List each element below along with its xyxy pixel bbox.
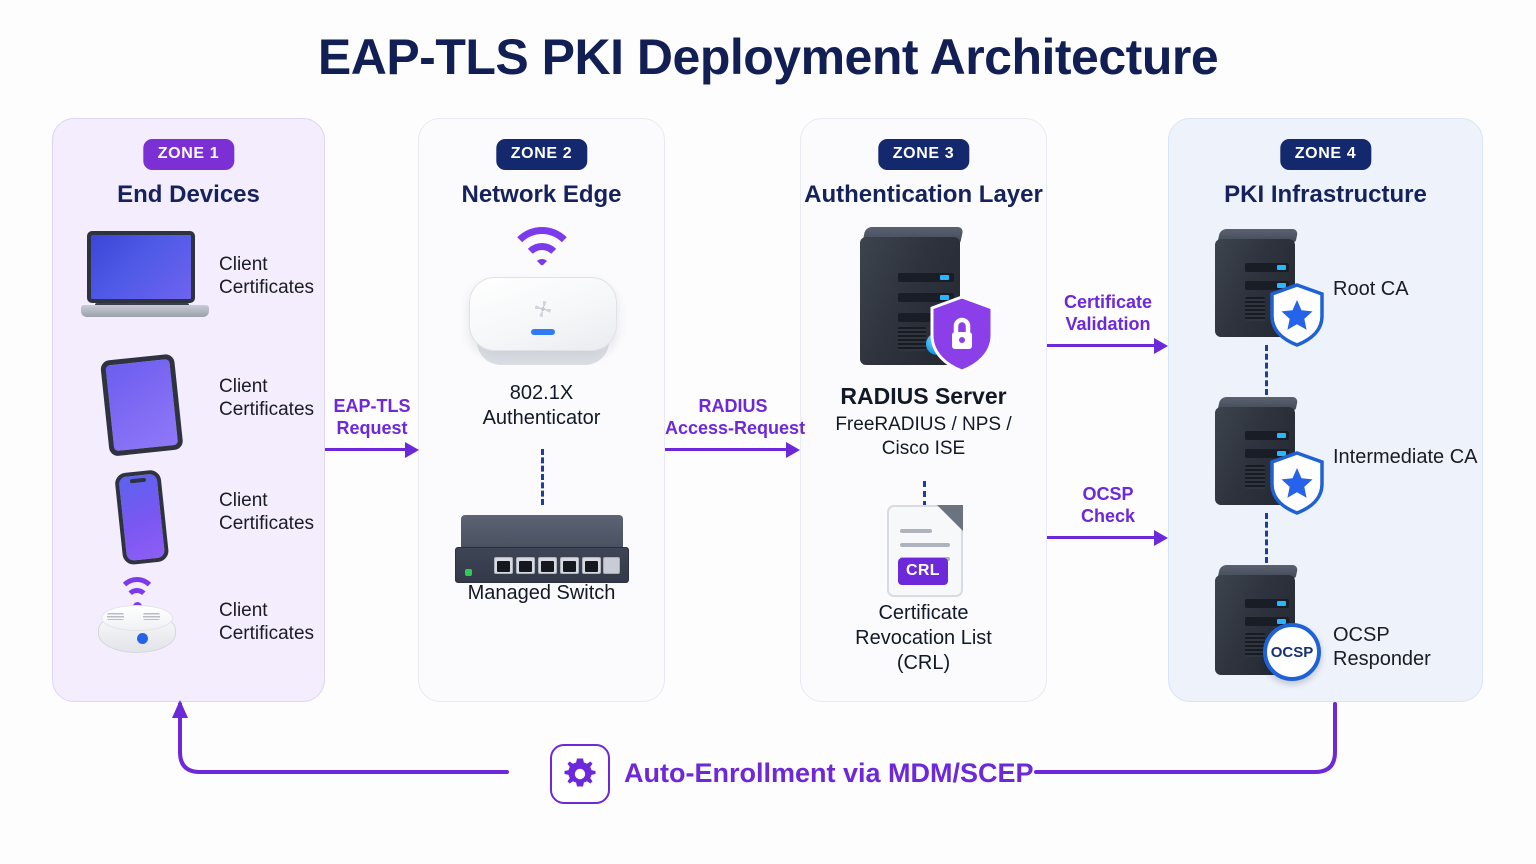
gear-icon-box[interactable] (550, 744, 610, 804)
gear-icon (563, 757, 597, 791)
diagram-canvas: EAP-TLS PKI Deployment Architecture ZONE… (0, 0, 1536, 864)
auto-enrollment-label: Auto-Enrollment via MDM/SCEP (624, 758, 1034, 789)
auto-enrollment-loop (0, 0, 1536, 864)
